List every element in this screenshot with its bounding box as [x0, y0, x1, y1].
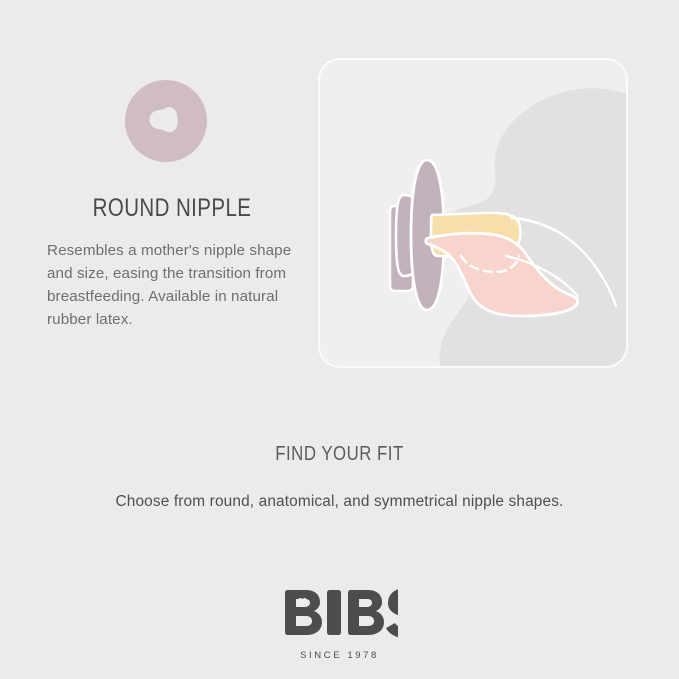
find-your-fit-title: FIND YOUR FIT: [275, 443, 404, 466]
bibs-brand-logo: R SINCE 1978: [0, 586, 679, 661]
feature-title: ROUND NIPPLE: [70, 194, 275, 223]
find-your-fit-block: FIND YOUR FIT Choose from round, anatomi…: [0, 443, 679, 511]
product-feature-page: ROUND NIPPLE Resembles a mother's nipple…: [0, 0, 679, 679]
brand-tagline: SINCE 1978: [0, 650, 679, 661]
round-nipple-shape-icon: [125, 80, 207, 162]
find-your-fit-subtitle: Choose from round, anatomical, and symme…: [0, 493, 679, 511]
feature-info-column: ROUND NIPPLE Resembles a mother's nipple…: [47, 80, 297, 331]
feature-top-section: ROUND NIPPLE Resembles a mother's nipple…: [0, 0, 679, 400]
heart-icon: [298, 598, 307, 606]
feature-description: Resembles a mother's nipple shape and si…: [47, 239, 297, 331]
nipple-fit-illustration: [318, 58, 628, 368]
